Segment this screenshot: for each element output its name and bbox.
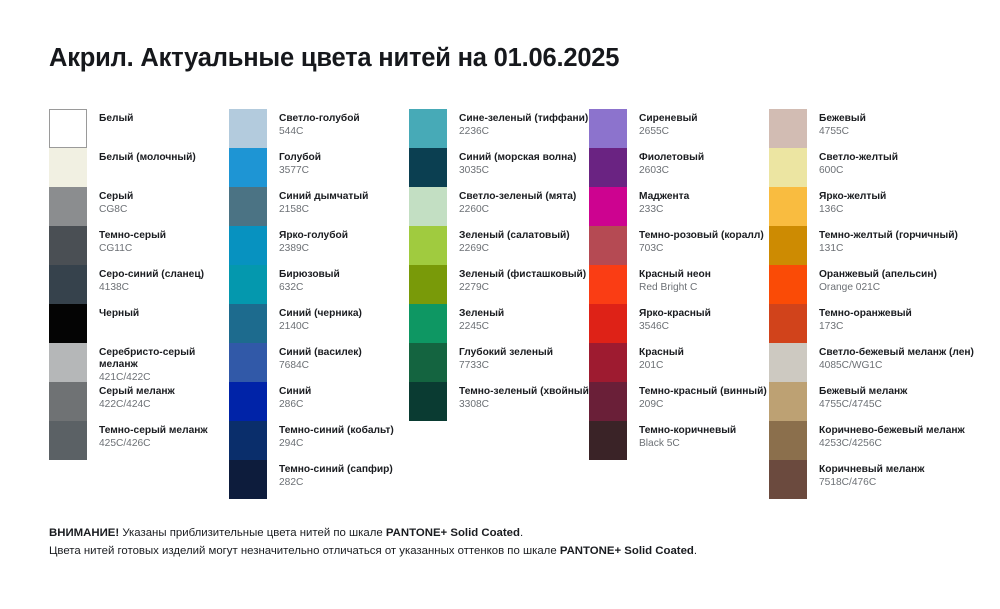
color-labels: Светло-желтый600C [819,148,898,177]
color-swatch[interactable] [409,109,447,148]
pantone-code: 7684C [279,360,362,372]
color-labels: Темно-синий (кобальт)294C [279,421,394,450]
color-name: Светло-желтый [819,152,898,164]
color-name: Сине-зеленый (тиффани) [459,113,588,125]
color-name: Темно-синий (сапфир) [279,464,393,476]
color-name: Светло-зеленый (мята) [459,191,576,203]
footer-notes: ВНИМАНИЕ! Указаны приблизительные цвета … [49,524,949,561]
color-swatch[interactable] [49,187,87,226]
color-name: Темно-желтый (горчичный) [819,230,958,242]
color-swatch[interactable] [229,421,267,460]
pantone-code: Orange 021C [819,282,937,294]
color-swatch-row[interactable]: Черный [49,304,229,343]
color-swatch-row[interactable]: Синий286C [229,382,409,421]
color-swatch[interactable] [229,148,267,187]
color-swatch-row[interactable]: Темно-красный (винный)209C [589,382,769,421]
color-swatch[interactable] [409,382,447,421]
color-swatch[interactable] [769,265,807,304]
color-labels: Коричневый меланж7518C/476C [819,460,924,489]
color-labels: Темно-розовый (коралл)703C [639,226,764,255]
color-name: Синий [279,386,311,398]
color-labels: Светло-голубой544C [279,109,360,138]
color-swatch-row[interactable]: Синий (черника)2140C [229,304,409,343]
color-swatch[interactable] [769,460,807,499]
color-labels: Зеленый (фисташковый)2279C [459,265,586,294]
color-swatch[interactable] [589,226,627,265]
color-name: Сиреневый [639,113,698,125]
pantone-code: 4755C/4745C [819,399,907,411]
pantone-code: 2279C [459,282,586,294]
pantone-code: Black 5C [639,438,736,450]
color-swatch-row[interactable]: Темно-синий (сапфир)282C [229,460,409,499]
color-swatch-row[interactable]: Красный201C [589,343,769,382]
color-swatch[interactable] [229,343,267,382]
color-name: Бирюзовый [279,269,340,281]
color-swatch[interactable] [769,226,807,265]
footer-line-2: Цвета нитей готовых изделий могут незнач… [49,542,949,560]
color-swatch[interactable] [769,343,807,382]
pantone-code: 632C [279,282,340,294]
page-title: Акрил. Актуальные цвета нитей на 01.06.2… [49,44,619,73]
pantone-code: CG11C [99,243,166,255]
color-swatch[interactable] [229,187,267,226]
color-labels: Темно-желтый (горчичный)131C [819,226,958,255]
color-name: Зеленый (фисташковый) [459,269,586,281]
color-labels: Темно-серый меланж425C/426C [99,421,208,450]
color-labels: Синий286C [279,382,311,411]
color-name: Белый [99,113,133,125]
color-labels: Бежевый меланж4755C/4745C [819,382,907,411]
color-swatch-row[interactable]: Коричнево-бежевый меланж4253C/4256C [769,421,969,460]
color-name: Светло-голубой [279,113,360,125]
color-labels: Синий (василек)7684C [279,343,362,372]
pantone-code: 136C [819,204,886,216]
color-name: Темно-синий (кобальт) [279,425,394,437]
color-swatch[interactable] [409,148,447,187]
pantone-code: 294C [279,438,394,450]
footer-line-1-brand: PANTONE+ Solid Coated [386,527,520,539]
color-name: Ярко-красный [639,308,711,320]
color-labels: Белый (молочный) [99,148,196,164]
color-labels: СерыйCG8C [99,187,133,216]
pantone-code: 209C [639,399,767,411]
color-swatch[interactable] [409,226,447,265]
color-swatch-row[interactable]: Белый (молочный) [49,148,229,187]
color-swatch[interactable] [49,226,87,265]
color-swatch[interactable] [49,421,87,460]
color-labels: Коричнево-бежевый меланж4253C/4256C [819,421,965,450]
pantone-code: 2655C [639,126,698,138]
pantone-code: 3308C [459,399,592,411]
color-swatch-row[interactable]: Сине-зеленый (тиффани)2236C [409,109,589,148]
color-swatch-row[interactable]: Ярко-голубой2389C [229,226,409,265]
color-name: Бежевый [819,113,866,125]
color-labels: Бирюзовый632C [279,265,340,294]
color-name: Темно-коричневый [639,425,736,437]
column-neutrals: БелыйБелый (молочный)СерыйCG8CТемно-серы… [49,109,229,499]
color-labels: Светло-бежевый меланж (лен)4085C/WG1C [819,343,974,372]
pantone-code: 4085C/WG1C [819,360,974,372]
color-swatch-row[interactable]: Красный неонRed Bright C [589,265,769,304]
color-swatch[interactable] [49,148,87,187]
color-labels: Светло-зеленый (мята)2260C [459,187,576,216]
pantone-code: 3035C [459,165,576,177]
color-name: Фиолетовый [639,152,704,164]
color-name: Черный [99,308,139,320]
color-name: Серебристо-серый меланж [99,347,217,371]
color-swatch-row[interactable]: Голубой3577C [229,148,409,187]
footer-line-2-text: Цвета нитей готовых изделий могут незнач… [49,545,560,557]
color-swatch[interactable] [49,265,87,304]
color-labels: Бежевый4755C [819,109,866,138]
footer-line-1: ВНИМАНИЕ! Указаны приблизительные цвета … [49,524,949,542]
color-name: Серо-синий (сланец) [99,269,204,281]
color-name: Темно-розовый (коралл) [639,230,764,242]
color-name: Синий (василек) [279,347,362,359]
color-name: Синий дымчатый [279,191,368,203]
footer-line-2-brand: PANTONE+ Solid Coated [560,545,694,557]
column-purples-reds: Сиреневый2655CФиолетовый2603CМаджента233… [589,109,769,499]
color-labels: Красный201C [639,343,684,372]
color-swatch-row[interactable]: Бежевый меланж4755C/4745C [769,382,969,421]
color-swatch[interactable] [589,343,627,382]
footer-line-1-text: Указаны приблизительные цвета нитей по ш… [119,527,386,539]
color-labels: Темно-красный (винный)209C [639,382,767,411]
color-labels: Темно-оранжевый173C [819,304,912,333]
color-labels: Сине-зеленый (тиффани)2236C [459,109,588,138]
pantone-code: 2158C [279,204,368,216]
color-name: Оранжевый (апельсин) [819,269,937,281]
color-name: Красный [639,347,684,359]
color-swatch[interactable] [769,421,807,460]
color-labels: Сиреневый2655C [639,109,698,138]
color-labels: Темно-серыйCG11C [99,226,166,255]
color-name: Светло-бежевый меланж (лен) [819,347,974,359]
color-swatch-row[interactable]: Бирюзовый632C [229,265,409,304]
color-name: Коричневый меланж [819,464,924,476]
color-swatch-row[interactable]: Бежевый4755C [769,109,969,148]
pantone-code: 425C/426C [99,438,208,450]
color-swatch-row[interactable]: Зеленый (фисташковый)2279C [409,265,589,304]
color-name: Серый [99,191,133,203]
pantone-code: 282C [279,477,393,489]
pantone-code: 2245C [459,321,504,333]
color-swatch-row[interactable]: Темно-серый меланж425C/426C [49,421,229,460]
pantone-code: 7733C [459,360,553,372]
color-labels: Черный [99,304,139,320]
color-labels: Серебристо-серый меланж421C/422C [99,343,217,384]
color-swatch-row[interactable]: Темно-коричневыйBlack 5C [589,421,769,460]
pantone-code: 2236C [459,126,588,138]
color-chart-page: Акрил. Актуальные цвета нитей на 01.06.2… [0,0,1000,609]
color-labels: Маджента233C [639,187,689,216]
color-labels: Фиолетовый2603C [639,148,704,177]
footer-line-2-end: . [694,545,697,557]
color-swatch-row[interactable]: Белый [49,109,229,148]
pantone-code: 2603C [639,165,704,177]
pantone-code: 422C/424C [99,399,175,411]
color-swatch-row[interactable]: Фиолетовый2603C [589,148,769,187]
color-swatch-row[interactable]: СерыйCG8C [49,187,229,226]
pantone-code: 7518C/476C [819,477,924,489]
pantone-code: 3546C [639,321,711,333]
color-name: Голубой [279,152,321,164]
color-swatch-row[interactable]: Серый меланж422C/424C [49,382,229,421]
color-swatch[interactable] [229,304,267,343]
color-swatch[interactable] [49,382,87,421]
color-swatch-row[interactable]: Ярко-красный3546C [589,304,769,343]
color-swatch-row[interactable]: Синий (морская волна)3035C [409,148,589,187]
color-name: Зеленый [459,308,504,320]
pantone-code: 4138C [99,282,204,294]
pantone-code: 2389C [279,243,348,255]
color-labels: Глубокий зеленый7733C [459,343,553,372]
color-swatch[interactable] [589,109,627,148]
color-swatch-row[interactable]: Светло-зеленый (мята)2260C [409,187,589,226]
pantone-code: 286C [279,399,311,411]
color-labels: Синий дымчатый2158C [279,187,368,216]
pantone-code: 600C [819,165,898,177]
color-name: Красный неон [639,269,711,281]
color-swatch-row[interactable]: Коричневый меланж7518C/476C [769,460,969,499]
color-swatch[interactable] [229,226,267,265]
color-swatch[interactable] [409,187,447,226]
pantone-code: Red Bright C [639,282,711,294]
pantone-code: 2260C [459,204,576,216]
column-warm-neutrals: Бежевый4755CСветло-желтый600CЯрко-желтый… [769,109,969,499]
color-swatch[interactable] [49,304,87,343]
column-greens: Сине-зеленый (тиффани)2236CСиний (морска… [409,109,589,499]
color-swatch[interactable] [589,265,627,304]
color-swatch[interactable] [229,382,267,421]
color-swatch-row[interactable]: Светло-бежевый меланж (лен)4085C/WG1C [769,343,969,382]
color-name: Белый (молочный) [99,152,196,164]
pantone-code: 3577C [279,165,321,177]
color-labels: Темно-синий (сапфир)282C [279,460,393,489]
color-swatch[interactable] [409,304,447,343]
color-labels: Темно-зеленый (хвойный)3308C [459,382,592,411]
color-swatch[interactable] [229,265,267,304]
pantone-code: 233C [639,204,689,216]
color-labels: Красный неонRed Bright C [639,265,711,294]
color-swatch-row[interactable]: Синий дымчатый2158C [229,187,409,226]
color-swatch[interactable] [769,187,807,226]
pantone-code: 703C [639,243,764,255]
color-swatch-row[interactable]: Светло-желтый600C [769,148,969,187]
color-swatch[interactable] [769,382,807,421]
color-name: Ярко-желтый [819,191,886,203]
footer-line-1-end: . [520,527,523,539]
color-swatch[interactable] [49,343,87,382]
pantone-code: 4253C/4256C [819,438,965,450]
color-swatch[interactable] [589,421,627,460]
color-swatch[interactable] [49,109,87,148]
footer-attention-label: ВНИМАНИЕ! [49,527,119,539]
color-name: Темно-оранжевый [819,308,912,320]
color-swatch-row[interactable]: Серо-синий (сланец)4138C [49,265,229,304]
color-labels: Синий (черника)2140C [279,304,362,333]
color-swatch-row[interactable]: Сиреневый2655C [589,109,769,148]
color-labels: Ярко-красный3546C [639,304,711,333]
color-name: Коричнево-бежевый меланж [819,425,965,437]
color-name: Темно-зеленый (хвойный) [459,386,592,398]
color-name: Маджента [639,191,689,203]
color-swatch-row[interactable]: Серебристо-серый меланж421C/422C [49,343,229,382]
color-labels: Ярко-голубой2389C [279,226,348,255]
pantone-code: 131C [819,243,958,255]
pantone-code: 2269C [459,243,570,255]
color-columns-container: БелыйБелый (молочный)СерыйCG8CТемно-серы… [49,109,989,499]
color-swatch[interactable] [769,304,807,343]
color-labels: Зеленый (салатовый)2269C [459,226,570,255]
color-swatch-row[interactable]: Темно-синий (кобальт)294C [229,421,409,460]
color-swatch[interactable] [409,265,447,304]
pantone-code: 173C [819,321,912,333]
color-swatch[interactable] [769,109,807,148]
color-swatch-row[interactable]: Синий (василек)7684C [229,343,409,382]
color-name: Ярко-голубой [279,230,348,242]
color-swatch-row[interactable]: Зеленый (салатовый)2269C [409,226,589,265]
color-name: Темно-серый [99,230,166,242]
color-swatch-row[interactable]: Темно-серыйCG11C [49,226,229,265]
color-swatch[interactable] [589,148,627,187]
color-swatch-row[interactable]: Темно-розовый (коралл)703C [589,226,769,265]
color-labels: Зеленый2245C [459,304,504,333]
color-swatch-row[interactable]: Глубокий зеленый7733C [409,343,589,382]
color-labels: Голубой3577C [279,148,321,177]
color-labels: Белый [99,109,133,125]
color-swatch[interactable] [229,109,267,148]
color-swatch-row[interactable]: Темно-зеленый (хвойный)3308C [409,382,589,421]
color-swatch-row[interactable]: Светло-голубой544C [229,109,409,148]
color-swatch[interactable] [769,148,807,187]
color-swatch[interactable] [229,460,267,499]
color-swatch[interactable] [589,382,627,421]
color-name: Бежевый меланж [819,386,907,398]
column-blues: Светло-голубой544CГолубой3577CСиний дымч… [229,109,409,499]
color-swatch[interactable] [409,343,447,382]
color-labels: Ярко-желтый136C [819,187,886,216]
pantone-code: CG8C [99,204,133,216]
color-labels: Серо-синий (сланец)4138C [99,265,204,294]
pantone-code: 4755C [819,126,866,138]
color-labels: Синий (морская волна)3035C [459,148,576,177]
color-labels: Темно-коричневыйBlack 5C [639,421,736,450]
color-labels: Серый меланж422C/424C [99,382,175,411]
color-name: Зеленый (салатовый) [459,230,570,242]
color-swatch[interactable] [589,187,627,226]
pantone-code: 544C [279,126,360,138]
color-swatch-row[interactable]: Темно-оранжевый173C [769,304,969,343]
color-swatch[interactable] [589,304,627,343]
color-swatch-row[interactable]: Темно-желтый (горчичный)131C [769,226,969,265]
pantone-code: 201C [639,360,684,372]
color-labels: Оранжевый (апельсин)Orange 021C [819,265,937,294]
color-swatch-row[interactable]: Оранжевый (апельсин)Orange 021C [769,265,969,304]
color-swatch-row[interactable]: Зеленый2245C [409,304,589,343]
color-name: Темно-красный (винный) [639,386,767,398]
color-name: Темно-серый меланж [99,425,208,437]
color-name: Глубокий зеленый [459,347,553,359]
pantone-code: 2140C [279,321,362,333]
color-swatch-row[interactable]: Маджента233C [589,187,769,226]
color-name: Синий (морская волна) [459,152,576,164]
color-swatch-row[interactable]: Ярко-желтый136C [769,187,969,226]
color-name: Серый меланж [99,386,175,398]
color-name: Синий (черника) [279,308,362,320]
